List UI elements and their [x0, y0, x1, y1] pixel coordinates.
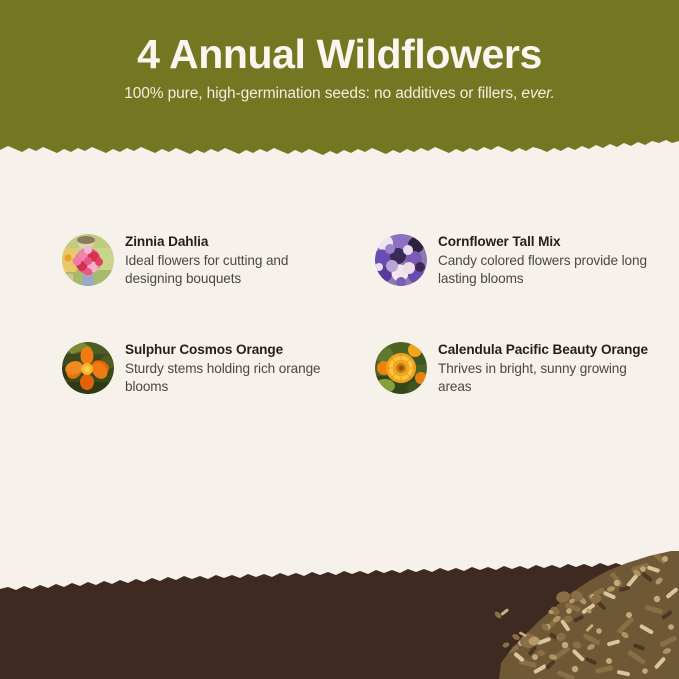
item-description: Candy colored flowers provide long lasti…: [438, 251, 650, 288]
item-text-block: Zinnia Dahlia Ideal flowers for cutting …: [114, 232, 337, 288]
item-title: Zinnia Dahlia: [125, 233, 337, 251]
subtitle-lead: 100% pure, high-germination seeds: no ad…: [124, 85, 521, 102]
product-feature-card: 4 Annual Wildflowers 100% pure, high-ger…: [0, 0, 679, 679]
cornflower-tall-mix-photo: [375, 234, 427, 286]
item-title: Sulphur Cosmos Orange: [125, 341, 337, 359]
item-text-block: Sulphur Cosmos Orange Sturdy stems holdi…: [114, 340, 337, 396]
item-title: Calendula Pacific Beauty Orange: [438, 341, 650, 359]
wildflower-variety-list: Zinnia Dahlia Ideal flowers for cutting …: [0, 232, 679, 396]
item-description: Thrives in bright, sunny growing areas: [438, 359, 650, 396]
calendula-pacific-beauty-orange-photo: [375, 342, 427, 394]
subtitle-emphasis: ever.: [521, 85, 554, 102]
item-title: Cornflower Tall Mix: [438, 233, 650, 251]
item-text-block: Cornflower Tall Mix Candy colored flower…: [427, 232, 650, 288]
header-text-block: 4 Annual Wildflowers 100% pure, high-ger…: [0, 0, 679, 103]
zinnia-dahlia-photo: [62, 234, 114, 286]
list-item: Sulphur Cosmos Orange Sturdy stems holdi…: [62, 340, 345, 396]
sulphur-cosmos-orange-photo: [62, 342, 114, 394]
list-item: Cornflower Tall Mix Candy colored flower…: [375, 232, 658, 288]
list-item: Zinnia Dahlia Ideal flowers for cutting …: [62, 232, 345, 288]
item-description: Ideal flowers for cutting and designing …: [125, 251, 337, 288]
page-subtitle: 100% pure, high-germination seeds: no ad…: [0, 78, 679, 103]
page-title: 4 Annual Wildflowers: [0, 0, 679, 78]
item-text-block: Calendula Pacific Beauty Orange Thrives …: [427, 340, 650, 396]
list-item: Calendula Pacific Beauty Orange Thrives …: [375, 340, 658, 396]
header-banner: 4 Annual Wildflowers 100% pure, high-ger…: [0, 0, 679, 172]
footer-soil-banner: [0, 549, 679, 679]
item-description: Sturdy stems holding rich orange blooms: [125, 359, 337, 396]
scattered-seeds-group: [0, 549, 679, 679]
